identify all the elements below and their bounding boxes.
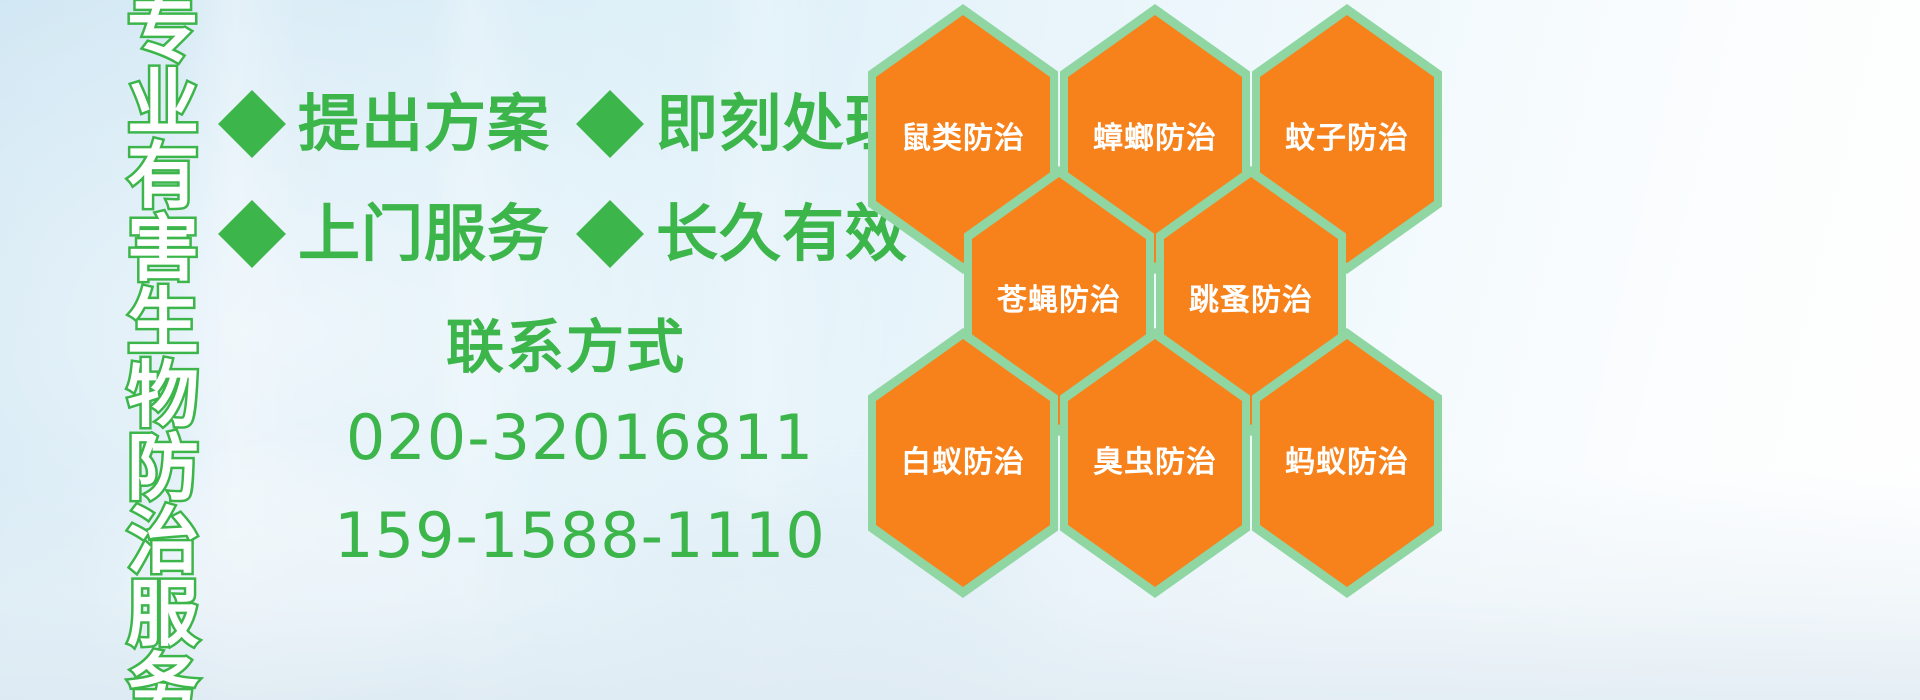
vertical-title-char: 服 (127, 578, 199, 651)
feature-label: 上门服务 (298, 198, 550, 270)
service-label: 鼠类防治 (901, 122, 1025, 156)
feature-item-onsite-service: 上门服务 (228, 198, 550, 270)
hex-inner: 臭虫防治 (1068, 339, 1242, 587)
service-label: 跳蚤防治 (1189, 284, 1313, 318)
vertical-title-char: 专 (127, 0, 199, 67)
vertical-title: 专业有害生物防治服务 (104, 0, 222, 594)
vertical-title-char: 防 (127, 432, 199, 505)
hex-inner: 蚂蚁防治 (1260, 339, 1434, 587)
vertical-title-char: 有 (127, 140, 199, 213)
service-label: 苍蝇防治 (997, 284, 1121, 318)
service-label: 蚂蚁防治 (1285, 446, 1409, 480)
pest-control-banner: 专业有害生物防治服务 提出方案 即刻处理 上门服务 长久有效 联系方式 020-… (0, 0, 1920, 700)
diamond-icon (218, 90, 286, 158)
vertical-title-char: 治 (127, 505, 199, 578)
hex-inner: 白蚁防治 (876, 339, 1050, 587)
service-label: 蟑螂防治 (1093, 122, 1217, 156)
service-label: 臭虫防治 (1093, 446, 1217, 480)
service-label: 蚊子防治 (1285, 122, 1409, 156)
contact-title: 联系方式 (272, 312, 860, 382)
feature-row-2: 上门服务 长久有效 (228, 198, 908, 270)
vertical-title-char: 务 (127, 651, 199, 700)
vertical-title-char: 物 (127, 359, 199, 432)
feature-label: 提出方案 (298, 88, 550, 160)
service-honeycomb: 鼠类防治 蟑螂防治 蚊子防治 苍蝇防治 跳蚤防治 白蚁防治 (858, 0, 1458, 700)
contact-block: 联系方式 020-32016811 159-1588-1110 (300, 312, 860, 578)
phone-number-landline[interactable]: 020-32016811 (300, 396, 860, 480)
diamond-icon (218, 200, 286, 268)
feature-item-propose-plan: 提出方案 (228, 88, 550, 160)
diamond-icon (576, 200, 644, 268)
vertical-title-char: 生 (127, 286, 199, 359)
service-label: 白蚁防治 (901, 446, 1025, 480)
diamond-icon (576, 90, 644, 158)
feature-row-1: 提出方案 即刻处理 (228, 88, 908, 160)
phone-number-mobile[interactable]: 159-1588-1110 (300, 494, 860, 578)
vertical-title-char: 业 (127, 67, 199, 140)
vertical-title-char: 害 (127, 213, 199, 286)
